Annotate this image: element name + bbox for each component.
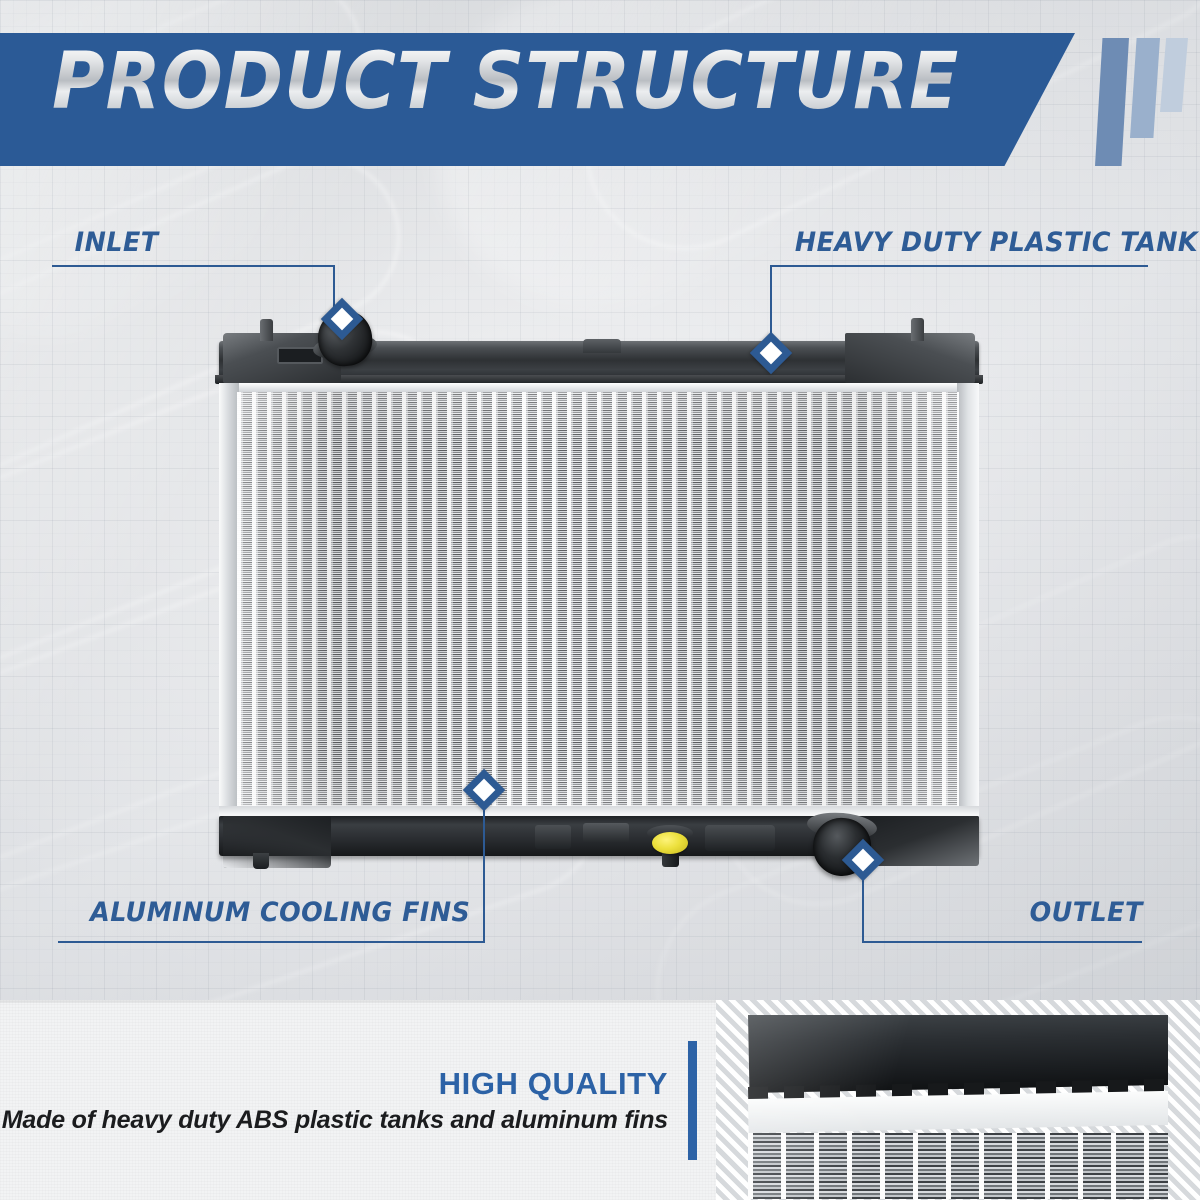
photo-content (748, 1015, 1168, 1199)
infographic-canvas: PRODUCT STRUCTURE (0, 0, 1200, 1200)
callout-label-aluminum-cooling-fins: ALUMINUM COOLING FINS (90, 898, 470, 928)
bottom-tab-3 (705, 825, 775, 851)
footer-title: HIGH QUALITY (439, 1066, 668, 1102)
closeup-photo (716, 1000, 1200, 1200)
top-tank-knob (583, 339, 621, 353)
radiator-product-image (205, 313, 980, 873)
core-frame-top (219, 383, 979, 392)
footer-top-edge (0, 1000, 716, 1003)
top-right-nipple (911, 318, 924, 341)
footer-divider-bar (688, 1041, 697, 1160)
core-frame-bottom (219, 806, 979, 816)
callout-label-inlet: INLET (75, 228, 159, 258)
core-frame-right (957, 383, 979, 815)
core-frame-left (219, 383, 239, 815)
footer-subtitle: Made of heavy duty ABS plastic tanks and… (2, 1106, 668, 1135)
footer-text-block: HIGH QUALITY Made of heavy duty ABS plas… (0, 1000, 690, 1200)
bottom-tab-1 (535, 825, 571, 849)
top-left-nipple (260, 319, 273, 341)
drain-plug-yellow-cap (652, 832, 688, 854)
callout-label-outlet: OUTLET (1030, 898, 1143, 928)
aluminum-core (237, 392, 959, 807)
bottom-tab-2 (583, 823, 629, 843)
photo-highlight (748, 1015, 1168, 1199)
bottom-left-foot (253, 853, 269, 869)
bottom-left-bracket (223, 816, 331, 868)
core-shading (237, 392, 959, 807)
callout-label-heavy-duty-plastic-tank: HEAVY DUTY PLASTIC TANK (795, 228, 1198, 258)
top-right-bracket (845, 333, 975, 383)
page-title: PRODUCT STRUCTURE (52, 43, 959, 121)
